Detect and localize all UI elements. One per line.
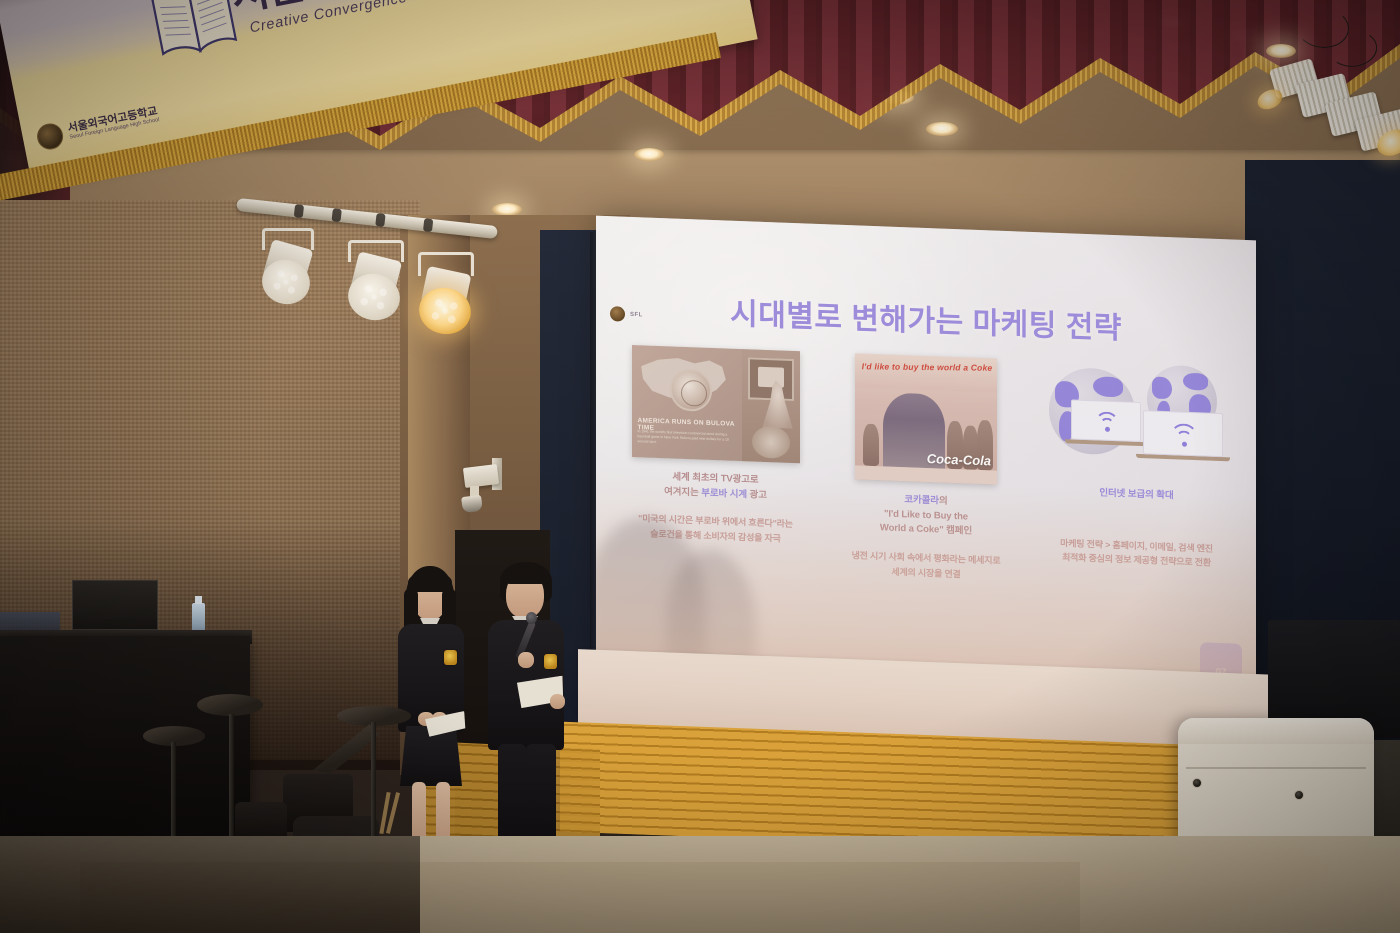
truss-cable-wrap [294,204,304,218]
crowd-figure [863,424,879,467]
laptop-screen [1143,410,1223,457]
led-array [352,276,396,317]
podium-top-lip [1178,718,1374,744]
auditorium-photo: 서울외고 창의·융합 컨퍼런스 | 일시: 2025. 12. 26. (금) … [0,0,1400,933]
ad-body-text: In 1941 the world's first television com… [638,429,740,448]
school-name: 서울외국어고등학교 Seoul Foreign Language High Sc… [67,107,160,142]
globe-laptop-wifi-icons [1039,360,1234,471]
podium-panel-seam [1186,767,1366,769]
school-crest-badge [444,650,457,665]
projection-screen: SFL 시대별로 변해가는 마케팅 전략 AMERICA RUNS ON BUL… [596,216,1256,713]
school-logo: 서울외국어고등학교 Seoul Foreign Language High Sc… [35,102,161,151]
bulova-watch-dial [670,368,712,412]
laptop-icon [1143,410,1223,461]
par-can-stage-light [414,252,480,336]
truss-cable-wrap [375,213,385,227]
coca-cola-logo: Coca-Cola [927,451,991,468]
podium-lock[interactable] [1294,790,1304,800]
ad-sky [855,353,997,392]
vintage-tv-icon [748,357,794,401]
floor-shadow-left [0,836,420,933]
truss-cable-wrap [423,218,433,232]
cymbal [197,694,263,716]
cymbal [313,724,379,774]
ceiling-downlight [634,148,664,161]
hair-front [502,566,550,584]
ceiling-downlight [926,122,958,136]
coca-cola-hilltop-ad-image: I'd like to buy the world a Coke Coca-Co… [855,353,997,484]
bulova-tv-ad-image: AMERICA RUNS ON BULOVA TIME In 1941 the … [632,345,800,463]
par-can-stage-light [344,240,410,322]
security-camera [463,464,499,488]
led-array [423,291,467,331]
flight-case [72,580,158,630]
laptop-screen [1071,399,1141,442]
school-seal-icon [35,121,66,152]
open-book-icon [145,0,245,67]
par-can-stage-light [258,228,320,306]
hand [550,694,565,709]
led-array [265,262,307,302]
coke-slogan-text: I'd like to buy the world a Coke [860,361,994,373]
podium-lock[interactable] [1192,778,1202,788]
microphone-head [526,612,537,624]
laptop-icon [1071,399,1141,446]
school-crest-badge [544,654,557,669]
hand [518,652,534,668]
ceiling-downlight [1266,44,1296,58]
truss-cable-wrap [332,208,342,222]
